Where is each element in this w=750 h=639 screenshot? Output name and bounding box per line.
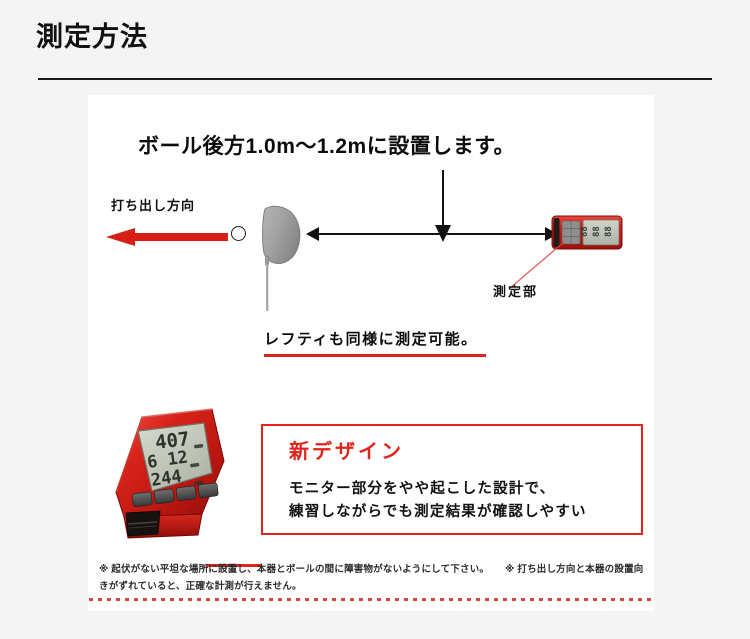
setup-diagram: ボール後方1.0m〜1.2mに設置します。 打ち出し方向 [88,95,654,380]
golf-ball-icon [231,226,246,241]
sensor-leader-line [508,240,568,290]
diagram-headline: ボール後方1.0m〜1.2mに設置します。 [138,136,515,157]
feature-body: モニター部分をやや起こした設計で、 練習しながらでも測定結果が確認しやすい [289,478,587,524]
svg-text:88: 88 [592,226,602,237]
title-divider [38,78,712,80]
feature-body-line-2: 練習しながらでも測定結果が確認しやすい [289,501,587,524]
golf-driver-icon [251,203,311,313]
launch-direction-label: 打ち出し方向 [111,199,195,212]
lefty-note: レフティも同様に測定可能。 [264,332,478,347]
content-panel: ボール後方1.0m〜1.2mに設置します。 打ち出し方向 [88,95,654,611]
feature-title: 新デザイン [289,442,404,462]
bottom-dotted-divider [89,598,653,601]
lefty-note-underline [264,354,486,357]
footnotes: ※ 起伏がない平坦な場所に設置し、本器とボールの間に障害物がないようにして下さい… [99,561,645,595]
feature-section: 407 6 12 244 [88,380,654,555]
page-title: 測定方法 [36,24,148,51]
launch-direction-arrow-icon [106,228,228,246]
feature-body-line-1: モニター部分をやや起こした設計で、 [289,478,587,501]
footnote-1: ※ 起伏がない平坦な場所に設置し、本器とボールの間に障害物がないようにして下さい… [99,564,489,575]
feature-callout-box: 新デザイン モニター部分をやや起こした設計で、 練習しながらでも測定結果が確認し… [261,424,643,535]
svg-text:88: 88 [580,226,590,237]
svg-text:88: 88 [604,226,614,237]
page-header: 測定方法 [0,0,750,95]
product-photo: 407 6 12 244 [98,395,258,545]
sensor-part-label: 測定部 [493,285,538,298]
